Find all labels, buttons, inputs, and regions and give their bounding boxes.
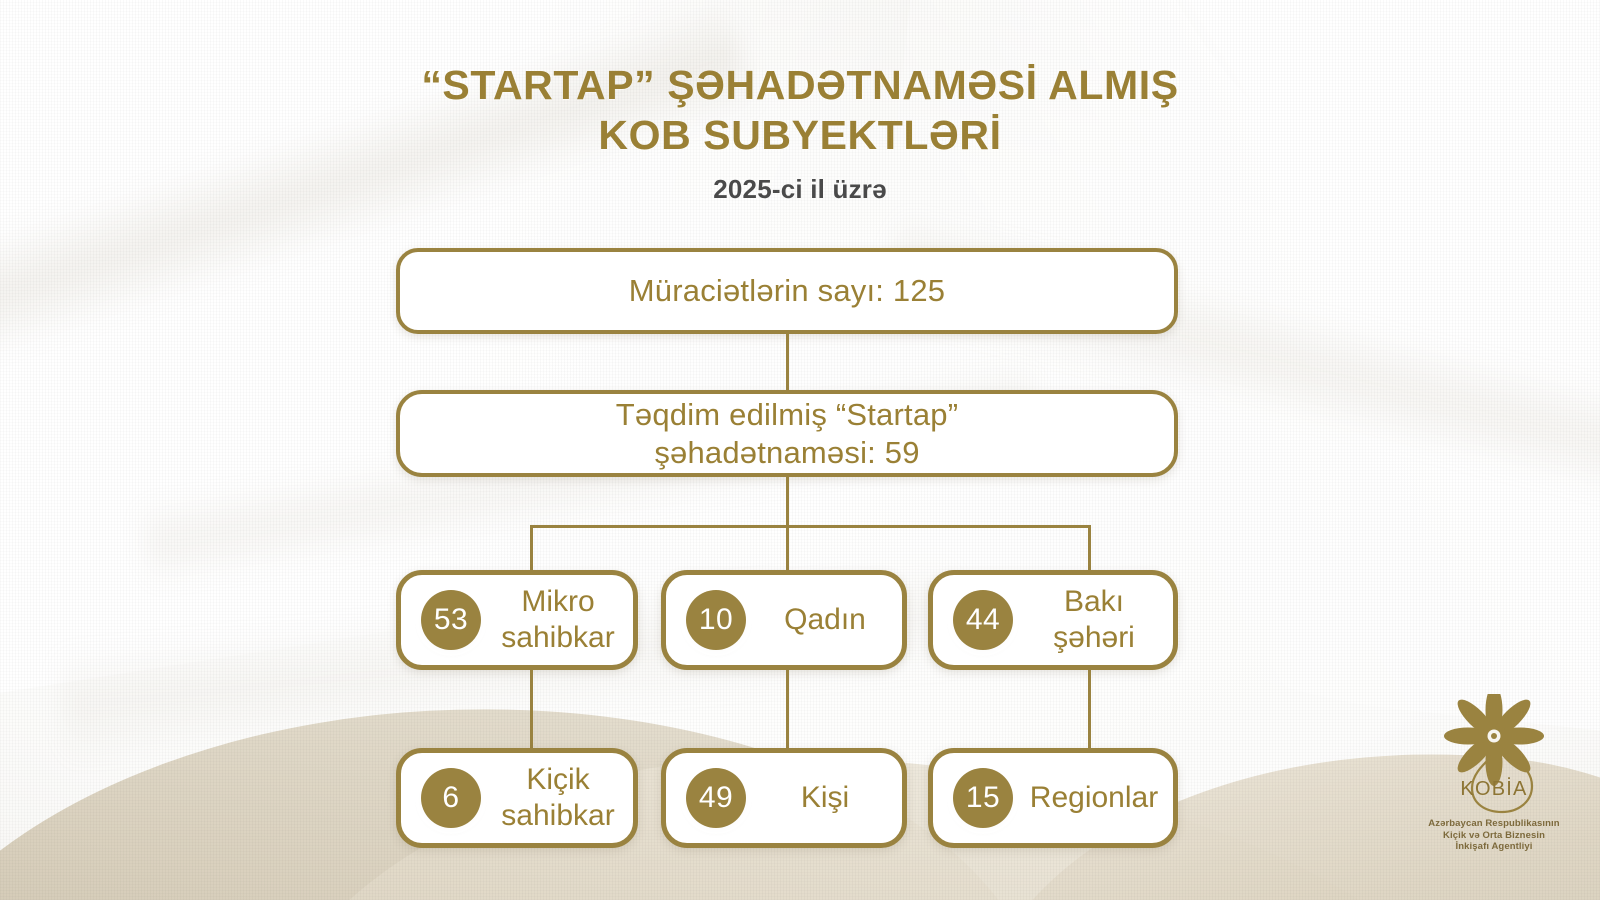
kobia-logo: KOBİA Azərbaycan Respublikasının Kiçik v… xyxy=(1398,694,1590,866)
stat-label-baki: Bakı şəhəri xyxy=(1029,584,1173,656)
kobia-logo-mark: KOBİA xyxy=(1398,694,1590,814)
connector-bus-to-qadin xyxy=(786,525,789,570)
title-line-1: “STARTAP” ŞƏHADƏTNAMƏSİ ALMIŞ xyxy=(0,60,1600,110)
page-subtitle: 2025-ci il üzrə xyxy=(0,174,1600,205)
stat-label-kicik: Kiçik sahibkar xyxy=(497,762,633,834)
stat-label-regionlar: Regionlar xyxy=(1029,780,1173,816)
connector-horizontal-bus xyxy=(530,525,1091,528)
stat-badge-mikro: 53 xyxy=(421,590,481,650)
stat-label-qadin: Qadın xyxy=(762,602,902,638)
stat-card-kisi: 49 Kişi xyxy=(661,748,907,848)
connector-qadin-to-kisi xyxy=(786,670,789,748)
stat-label-mikro: Mikro sahibkar xyxy=(497,584,633,656)
connector-bus-to-baki xyxy=(1088,525,1091,570)
card-certificates-label: Təqdim edilmiş “Startap” şəhadətnaməsi: … xyxy=(616,396,958,472)
connector-bus-to-mikro xyxy=(530,525,533,570)
title-line-2: KOB SUBYEKTLƏRİ xyxy=(0,110,1600,160)
connector-certificates-stem xyxy=(786,477,789,525)
stat-card-baki-sehri: 44 Bakı şəhəri xyxy=(928,570,1178,670)
card-certificates-issued: Təqdim edilmiş “Startap” şəhadətnaməsi: … xyxy=(396,390,1178,477)
card-applications-count: Müraciətlərin sayı: 125 xyxy=(396,248,1178,334)
kobia-logo-caption: Azərbaycan Respublikasının Kiçik və Orta… xyxy=(1398,818,1590,853)
stat-card-qadin: 10 Qadın xyxy=(661,570,907,670)
connector-applications-to-certificates xyxy=(786,334,789,390)
kobia-logo-name: KOBİA xyxy=(1398,778,1590,801)
stat-label-kisi: Kişi xyxy=(762,780,902,816)
stat-card-kicik-sahibkar: 6 Kiçik sahibkar xyxy=(396,748,638,848)
stat-card-mikro-sahibkar: 53 Mikro sahibkar xyxy=(396,570,638,670)
stat-badge-kisi: 49 xyxy=(686,768,746,828)
page-title: “STARTAP” ŞƏHADƏTNAMƏSİ ALMIŞ KOB SUBYEK… xyxy=(0,60,1600,205)
connector-baki-to-regionlar xyxy=(1088,670,1091,748)
card-applications-label: Müraciətlərin sayı: 125 xyxy=(629,272,945,310)
connector-mikro-to-kicik xyxy=(530,670,533,748)
stat-badge-regionlar: 15 xyxy=(953,768,1013,828)
stat-badge-kicik: 6 xyxy=(421,768,481,828)
stat-card-regionlar: 15 Regionlar xyxy=(928,748,1178,848)
stat-badge-baki: 44 xyxy=(953,590,1013,650)
stat-badge-qadin: 10 xyxy=(686,590,746,650)
